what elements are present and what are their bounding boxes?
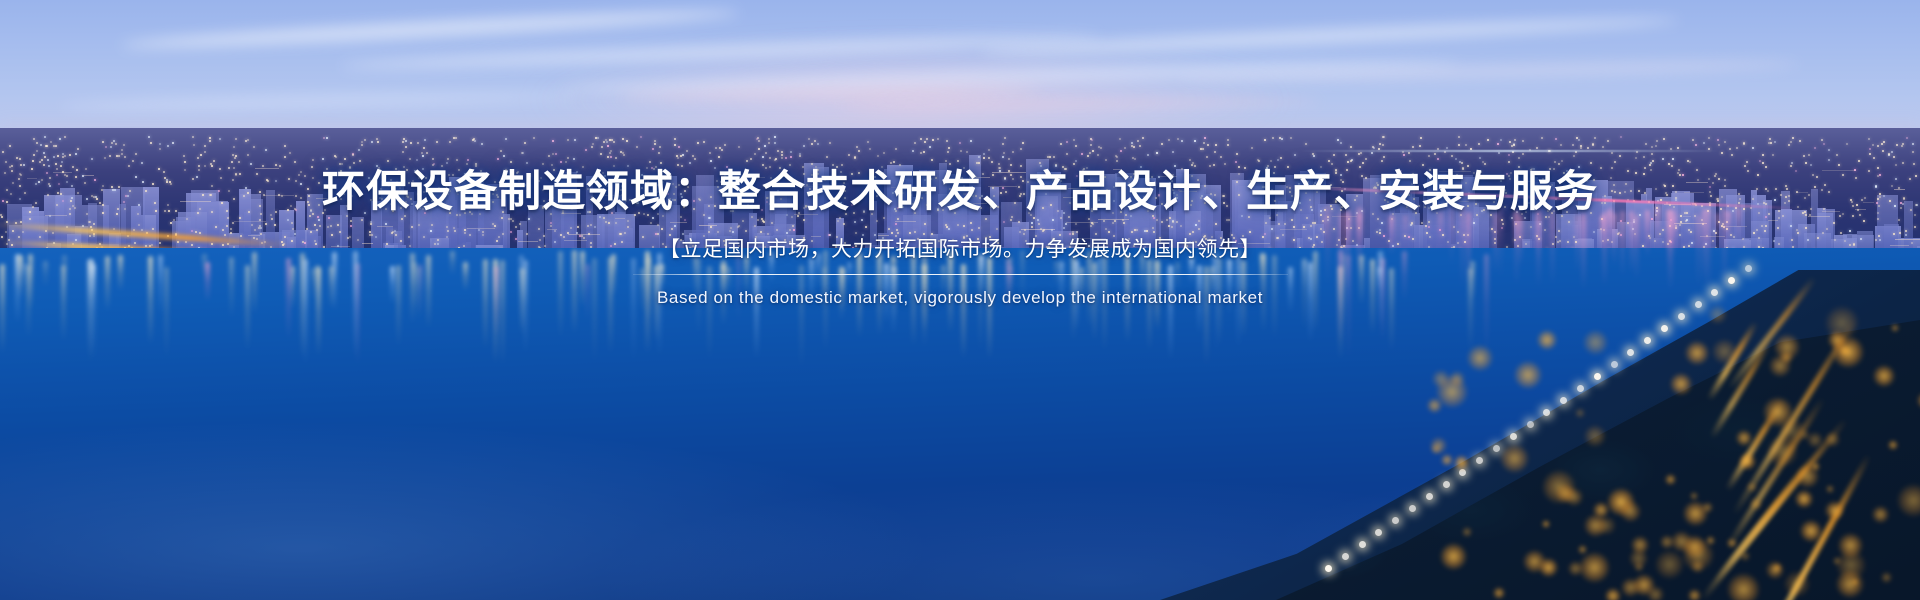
hero-banner: 环保设备制造领域：整合技术研发、产品设计、生产、安装与服务 【立足国内市场，大力… — [0, 0, 1920, 600]
far-bridge — [1300, 150, 1720, 152]
